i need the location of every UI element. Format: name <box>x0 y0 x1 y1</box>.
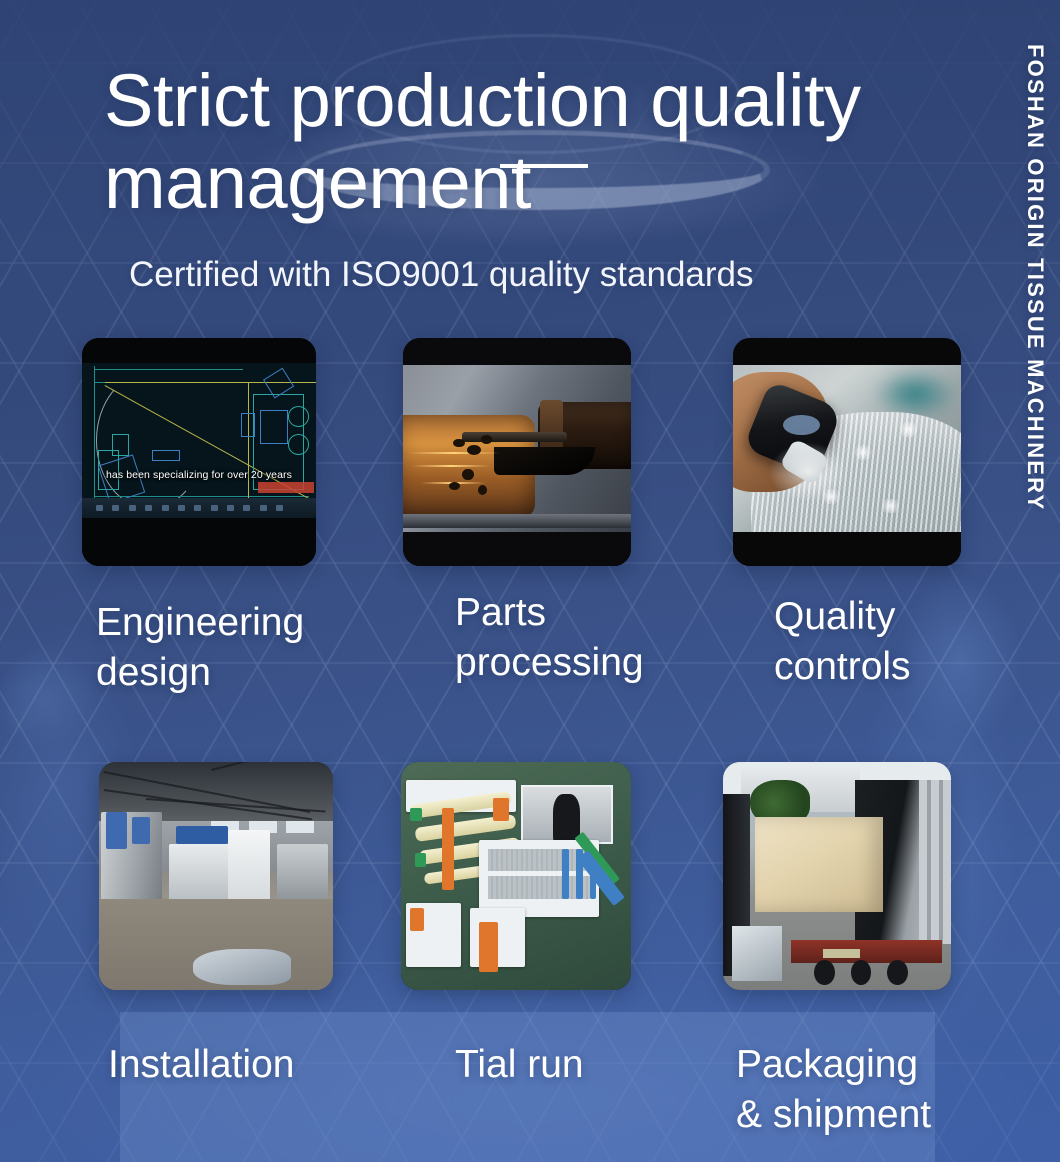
video-caption-overlay: has been specializing for over 20 years <box>82 469 316 481</box>
engineering-design-image-card[interactable]: has been specializing for over 20 years <box>82 338 316 566</box>
cad-engineering-drawing-screenshot: has been specializing for over 20 years <box>82 338 316 566</box>
packaging-shipment-image-card[interactable] <box>723 762 951 990</box>
installation-label: Installation <box>108 1040 408 1090</box>
quality-management-banner: Strict production quality management Cer… <box>0 0 1060 1162</box>
parts-processing-label: Parts processing <box>455 588 715 688</box>
factory-workshop-assembly-photo <box>99 762 333 990</box>
parts-processing-image-card[interactable] <box>403 338 631 566</box>
quality-controls-image-card[interactable] <box>733 338 961 566</box>
wooden-crate-container-loading-photo <box>723 762 951 990</box>
packaging-shipment-label: Packaging & shipment <box>736 1040 1036 1140</box>
magnifier-inspecting-tissue-photo <box>733 338 961 566</box>
trial-run-label: Tial run <box>455 1040 715 1090</box>
quality-controls-label: Quality controls <box>774 592 1034 692</box>
engineering-design-label: Engineering design <box>96 598 396 698</box>
process-steps-grid: has been specializing for over 20 years … <box>0 0 1060 1162</box>
installation-image-card[interactable] <box>99 762 333 990</box>
cnc-lathe-machining-photo <box>403 338 631 566</box>
trial-run-image-card[interactable] <box>401 762 631 990</box>
tissue-machine-trial-run-photo <box>401 762 631 990</box>
